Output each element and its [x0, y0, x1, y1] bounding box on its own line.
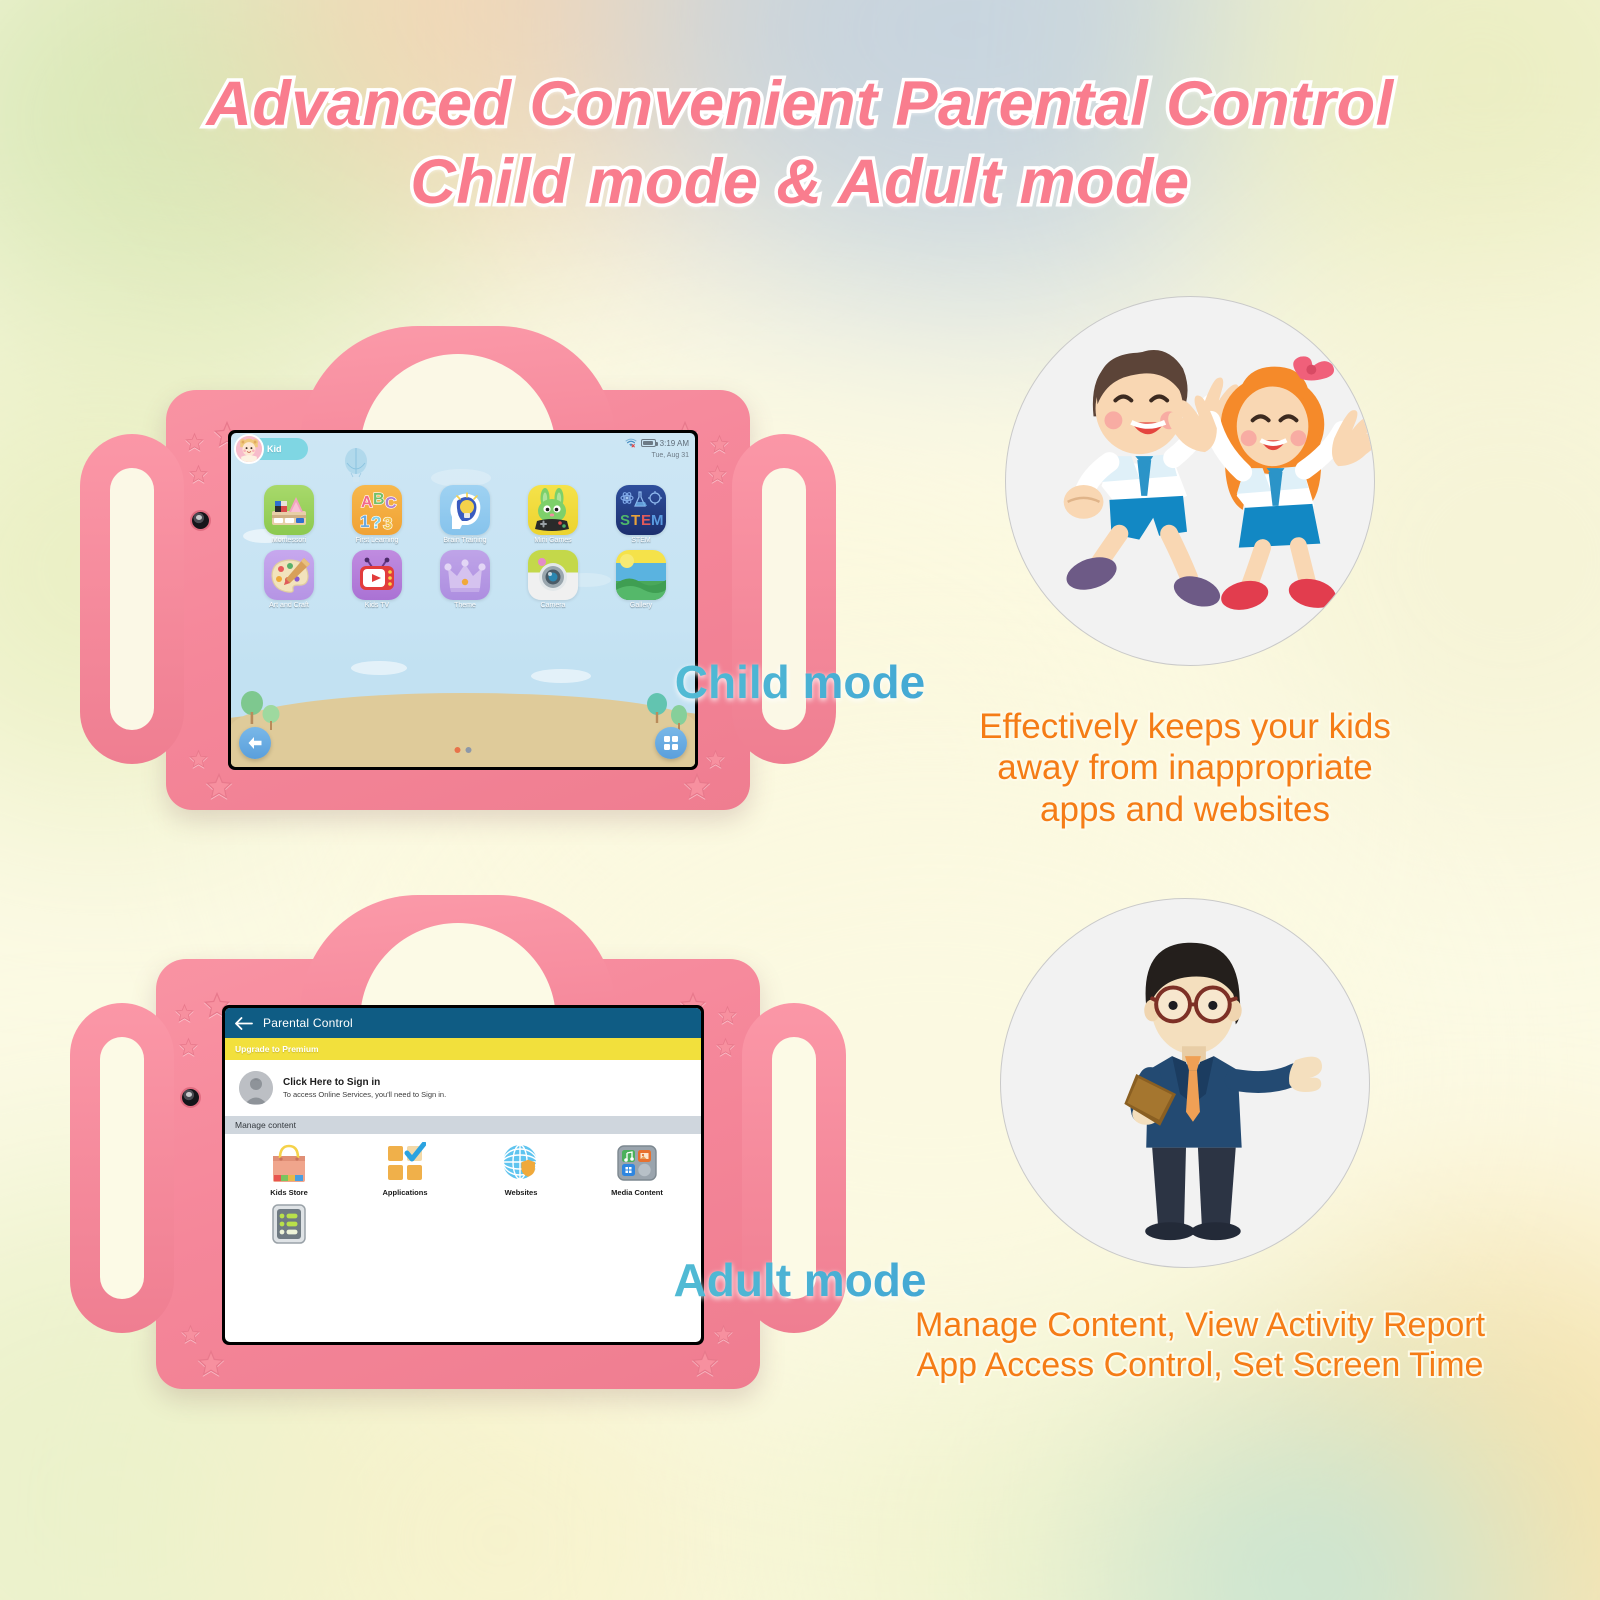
child-desc-line-3: apps and websites	[905, 789, 1465, 830]
adult-desc-line-2: App Access Control, Set Screen Time	[820, 1345, 1580, 1385]
svg-text:C: C	[385, 495, 397, 512]
child-mode-illustration	[1005, 296, 1375, 666]
manage-content-grid: Kids Store Applications Websites	[225, 1134, 701, 1197]
manage-item-label: Kids Store	[231, 1188, 347, 1197]
app-label: Theme	[421, 602, 509, 609]
montessori-icon	[264, 485, 314, 535]
upgrade-banner-label: Upgrade to Premium	[235, 1044, 319, 1054]
status-bar: 3:19 AM Tue, Aug 31	[625, 438, 689, 448]
child-desc-line-2: away from inappropriate	[905, 747, 1465, 788]
applications-check-icon	[384, 1142, 426, 1184]
app-item-kids-tv[interactable]: Kids TV	[333, 550, 421, 609]
star-decoration-icon	[717, 1005, 738, 1026]
app-item-stem[interactable]: S T E M STEM	[597, 485, 685, 544]
manage-item-label: Websites	[463, 1188, 579, 1197]
child-mode-title: Child mode	[0, 655, 1600, 709]
media-content-icon	[616, 1142, 658, 1184]
back-button[interactable]	[239, 727, 271, 759]
app-label: Camera	[509, 602, 597, 609]
svg-text:3: 3	[383, 514, 392, 533]
battery-icon	[641, 439, 656, 447]
adult-mode-description: Manage Content, View Activity Report App…	[820, 1305, 1580, 1385]
crown-icon	[440, 550, 490, 600]
app-header: Parental Control	[225, 1008, 701, 1038]
brain-bulb-icon	[440, 485, 490, 535]
headline-line-2: Child mode & Adult mode	[0, 150, 1600, 214]
star-decoration-icon	[690, 1349, 720, 1379]
front-camera-icon	[180, 1087, 201, 1108]
app-label: Art and Craft	[245, 602, 333, 609]
case-grip-right[interactable]	[732, 434, 836, 764]
svg-text:M: M	[651, 512, 664, 529]
camera-icon	[528, 550, 578, 600]
svg-text:B: B	[373, 491, 385, 508]
star-decoration-icon	[178, 1037, 199, 1058]
kid-profile-badge[interactable]: Kid	[237, 438, 308, 460]
manage-content-label: Manage content	[235, 1120, 296, 1130]
app-label: Mini Games	[509, 537, 597, 544]
user-avatar-icon	[239, 1071, 273, 1105]
app-grid: Montessori A B C 1 ? 3 First Learning Br…	[245, 485, 685, 609]
manage-item-label: Applications	[347, 1188, 463, 1197]
landscape-icon	[616, 550, 666, 600]
manage-item-websites[interactable]: Websites	[463, 1142, 579, 1197]
manage-item-kids-store[interactable]: Kids Store	[231, 1142, 347, 1197]
child-mode-tablet: 3:19 AM Tue, Aug 31	[78, 368, 838, 838]
tv-play-icon	[352, 550, 402, 600]
app-item-brain-training[interactable]: Brain Training	[421, 485, 509, 544]
adult-desc-line-1: Manage Content, View Activity Report	[820, 1305, 1580, 1345]
app-label: Gallery	[597, 602, 685, 609]
rabbit-gamepad-icon	[528, 485, 578, 535]
star-decoration-icon	[715, 1037, 736, 1058]
svg-text:E: E	[641, 512, 651, 529]
child-mode-description: Effectively keeps your kids away from in…	[905, 706, 1465, 830]
app-item-theme[interactable]: Theme	[421, 550, 509, 609]
app-label: Kids TV	[333, 602, 421, 609]
star-decoration-icon	[188, 749, 209, 770]
svg-text:A: A	[361, 494, 373, 511]
manage-item-label: Media Content	[579, 1188, 695, 1197]
headline-line-1: Advanced Convenient Parental Control	[0, 72, 1600, 136]
signin-title: Click Here to Sign in	[283, 1077, 446, 1088]
balloon-decoration-icon	[343, 447, 369, 489]
adult-mode-tablet: Parental Control Upgrade to Premium	[60, 935, 850, 1415]
svg-text:1: 1	[360, 512, 369, 531]
star-decoration-icon	[184, 432, 205, 453]
app-item-camera[interactable]: Camera	[509, 550, 597, 609]
activity-report-item[interactable]	[231, 1203, 347, 1245]
adult-mode-title: Adult mode	[0, 1253, 1600, 1307]
case-grip-left[interactable]	[80, 434, 184, 764]
page-indicator[interactable]	[455, 747, 472, 753]
kids-store-bag-icon	[268, 1142, 310, 1184]
palette-icon	[264, 550, 314, 600]
manage-content-row-2	[225, 1197, 701, 1245]
kid-profile-name: Kid	[267, 444, 282, 454]
star-decoration-icon	[196, 1349, 226, 1379]
star-decoration-icon	[180, 1324, 201, 1345]
kid-home-wallpaper: 3:19 AM Tue, Aug 31	[231, 433, 695, 767]
kid-avatar-icon	[234, 434, 264, 464]
svg-text:T: T	[631, 512, 640, 529]
app-item-mini-games[interactable]: Mini Games	[509, 485, 597, 544]
websites-globe-shield-icon	[500, 1142, 542, 1184]
app-label: First Learning	[333, 537, 421, 544]
app-label: Montessori	[245, 537, 333, 544]
back-arrow-icon[interactable]	[235, 1017, 253, 1030]
star-decoration-icon	[174, 1003, 195, 1024]
star-decoration-icon	[204, 772, 234, 802]
tablet-case-pink: Parental Control Upgrade to Premium	[156, 959, 760, 1389]
star-decoration-icon	[707, 464, 728, 485]
app-item-first-learning[interactable]: A B C 1 ? 3 First Learning	[333, 485, 421, 544]
star-decoration-icon	[705, 749, 726, 770]
star-decoration-icon	[709, 434, 730, 455]
manage-item-media-content[interactable]: Media Content	[579, 1142, 695, 1197]
status-time: 3:19 AM	[660, 439, 689, 448]
wifi-off-icon	[625, 438, 637, 448]
manage-content-section-header: Manage content	[225, 1116, 701, 1134]
adult-mode-illustration	[1000, 898, 1370, 1268]
front-camera-icon	[190, 510, 211, 531]
app-item-montessori[interactable]: Montessori	[245, 485, 333, 544]
svg-text:?: ?	[371, 513, 381, 532]
app-item-gallery[interactable]: Gallery	[597, 550, 685, 609]
star-decoration-icon	[188, 464, 209, 485]
activity-list-icon	[268, 1203, 310, 1245]
svg-text:S: S	[620, 512, 630, 529]
app-item-art-and-craft[interactable]: Art and Craft	[245, 550, 333, 609]
abc-123-icon: A B C 1 ? 3	[352, 485, 402, 535]
stem-icon: S T E M	[616, 485, 666, 535]
tablet-case-pink: 3:19 AM Tue, Aug 31	[166, 390, 750, 810]
star-decoration-icon	[713, 1324, 734, 1345]
manage-item-applications[interactable]: Applications	[347, 1142, 463, 1197]
back-arrow-icon	[247, 736, 263, 750]
status-date: Tue, Aug 31	[652, 452, 690, 459]
signin-row[interactable]: Click Here to Sign in To access Online S…	[225, 1060, 701, 1116]
app-drawer-button[interactable]	[655, 727, 687, 759]
tablet-screen-child: 3:19 AM Tue, Aug 31	[228, 430, 698, 770]
app-grid-icon	[663, 735, 679, 751]
app-label: Brain Training	[421, 537, 509, 544]
page-title: Advanced Convenient Parental Control Chi…	[0, 72, 1600, 215]
app-header-title: Parental Control	[263, 1016, 353, 1030]
upgrade-banner[interactable]: Upgrade to Premium	[225, 1038, 701, 1060]
star-decoration-icon	[682, 772, 712, 802]
app-label: STEM	[597, 537, 685, 544]
signin-subtitle: To access Online Services, you'll need t…	[283, 1090, 446, 1099]
child-desc-line-1: Effectively keeps your kids	[905, 706, 1465, 747]
